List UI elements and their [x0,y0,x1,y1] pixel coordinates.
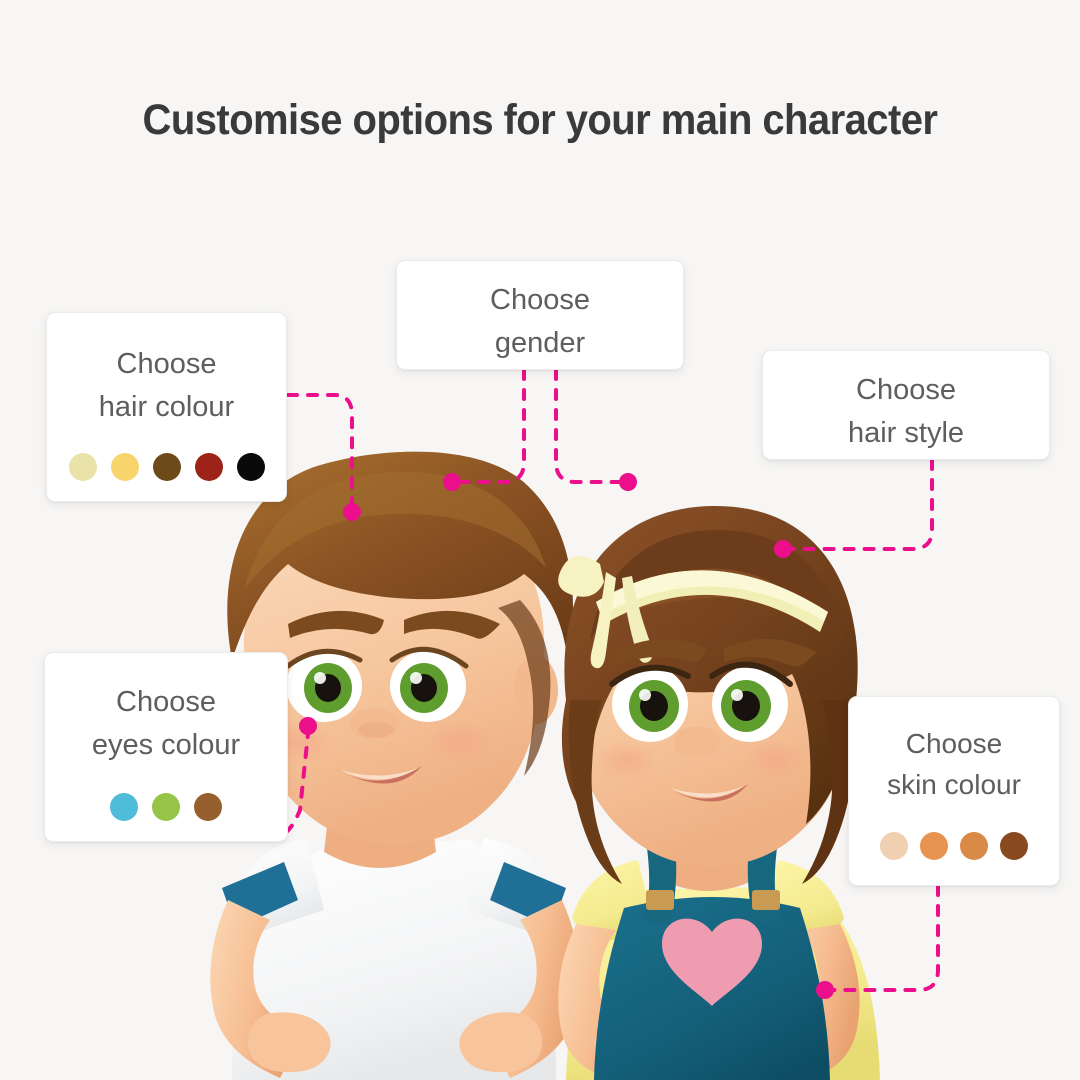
card-hair-colour-label: Choose hair colour [99,343,234,429]
eyes-colour-swatches [110,793,222,821]
card-hair-colour[interactable]: Choose hair colour [46,312,287,502]
connector-lines [0,0,1080,1080]
swatch-platinum-blonde[interactable] [69,453,97,481]
swatch-skin-tan[interactable] [960,832,988,860]
swatch-skin-medium[interactable] [920,832,948,860]
connector-dot-hair-colour [343,503,361,521]
swatch-brown[interactable] [153,453,181,481]
card-skin-colour-label: Choose skin colour [887,723,1021,806]
card-gender-label: Choose gender [490,279,590,365]
connector-hair-style [788,460,932,549]
card-hair-style-label: Choose hair style [848,369,964,455]
connector-dot-hair-style [774,540,792,558]
connector-hair-colour [288,395,352,508]
swatch-skin-light[interactable] [880,832,908,860]
connector-gender-right [556,370,624,482]
card-eyes-colour[interactable]: Choose eyes colour [44,652,288,842]
swatch-black[interactable] [237,453,265,481]
connector-dot-gender-left [443,473,461,491]
swatch-skin-dark[interactable] [1000,832,1028,860]
swatch-eye-green[interactable] [152,793,180,821]
swatch-eye-brown[interactable] [194,793,222,821]
card-gender[interactable]: Choose gender [396,260,684,370]
skin-colour-swatches [880,832,1028,860]
card-hair-style[interactable]: Choose hair style [762,350,1050,460]
connector-skin-colour [830,886,938,990]
connector-gender-left [456,370,524,482]
connector-dot-gender-right [619,473,637,491]
card-eyes-colour-label: Choose eyes colour [92,681,240,767]
swatch-eye-blue[interactable] [110,793,138,821]
swatch-golden-blonde[interactable] [111,453,139,481]
swatch-auburn-red[interactable] [195,453,223,481]
customiser-screen: Customise options for your main characte… [0,0,1080,1080]
card-skin-colour[interactable]: Choose skin colour [848,696,1060,886]
hair-colour-swatches [69,453,265,481]
connector-dot-eyes-colour [299,717,317,735]
connector-dot-skin-colour [816,981,834,999]
